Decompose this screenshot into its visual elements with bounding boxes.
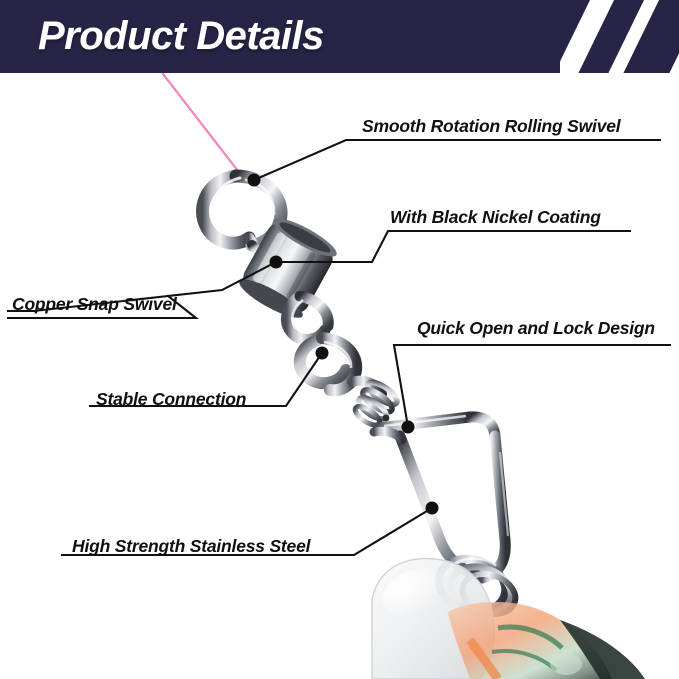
callout-label-copper-snap-swivel: Copper Snap Swivel xyxy=(12,294,177,315)
callout-label-smooth-rotation-rolling-swivel: Smooth Rotation Rolling Swivel xyxy=(362,116,620,137)
anchor-dot-smooth-rotation-rolling-swivel xyxy=(248,174,261,187)
header-banner: Product Details xyxy=(0,0,679,73)
page-title: Product Details xyxy=(38,11,324,61)
snap-clip xyxy=(374,416,508,578)
callout-label-high-strength-stainless-steel: High Strength Stainless Steel xyxy=(72,536,310,557)
soft-plastic-lure xyxy=(372,559,645,679)
product-details-infographic: Product Details Smooth Rotation Rolling … xyxy=(0,0,679,679)
callout-label-quick-open-and-lock-design: Quick Open and Lock Design xyxy=(417,318,655,339)
callout-label-stable-connection: Stable Connection xyxy=(96,389,246,410)
anchor-dot-quick-open-and-lock-design xyxy=(402,421,415,434)
callout-label-with-black-nickel-coating: With Black Nickel Coating xyxy=(390,207,601,228)
anchor-dot-stable-connection xyxy=(316,347,329,360)
fishing-line xyxy=(163,74,246,180)
anchor-dot-high-strength-stainless-steel xyxy=(426,502,439,515)
product-illustration xyxy=(0,0,679,679)
